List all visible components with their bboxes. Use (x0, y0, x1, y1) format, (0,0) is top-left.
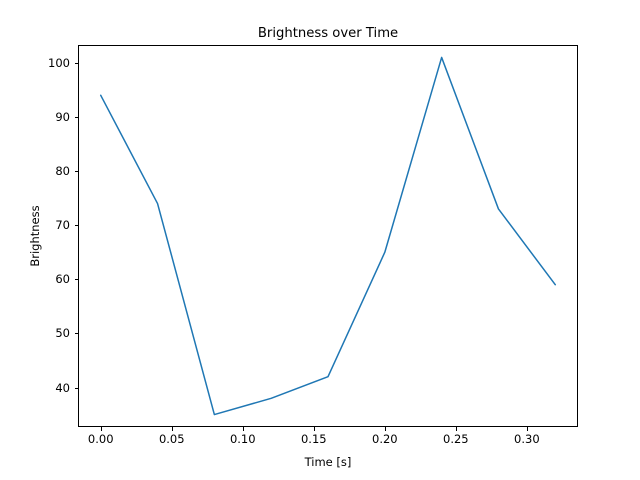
y-tick-mark (75, 63, 79, 64)
y-tick-label: 40 (30, 381, 70, 395)
y-tick-mark (75, 117, 79, 118)
x-tick-mark (243, 427, 244, 431)
y-tick-label: 80 (30, 164, 70, 178)
y-tick-label: 70 (30, 218, 70, 232)
y-tick-mark (75, 388, 79, 389)
x-tick-mark (527, 427, 528, 431)
plot-area (78, 45, 578, 427)
x-tick-mark (456, 427, 457, 431)
y-tick-label: 90 (30, 110, 70, 124)
y-tick-label: 50 (30, 326, 70, 340)
x-tick-label: 0.15 (301, 432, 327, 446)
y-tick-mark (75, 279, 79, 280)
x-tick-label: 0.20 (372, 432, 398, 446)
figure: Brightness over Time Time [s] Brightness… (0, 0, 640, 480)
x-tick-mark (101, 427, 102, 431)
x-tick-label: 0.10 (230, 432, 256, 446)
y-tick-mark (75, 171, 79, 172)
y-tick-mark (75, 333, 79, 334)
chart-title: Brightness over Time (78, 27, 578, 41)
x-tick-label: 0.00 (88, 432, 114, 446)
x-tick-mark (385, 427, 386, 431)
x-tick-label: 0.30 (514, 432, 540, 446)
x-tick-label: 0.05 (159, 432, 185, 446)
x-tick-label: 0.25 (443, 432, 469, 446)
y-axis-label: Brightness (28, 45, 42, 427)
x-axis-label: Time [s] (78, 455, 578, 469)
y-tick-label: 60 (30, 272, 70, 286)
x-tick-mark (172, 427, 173, 431)
y-tick-mark (75, 225, 79, 226)
x-tick-mark (314, 427, 315, 431)
y-tick-label: 100 (30, 56, 70, 70)
